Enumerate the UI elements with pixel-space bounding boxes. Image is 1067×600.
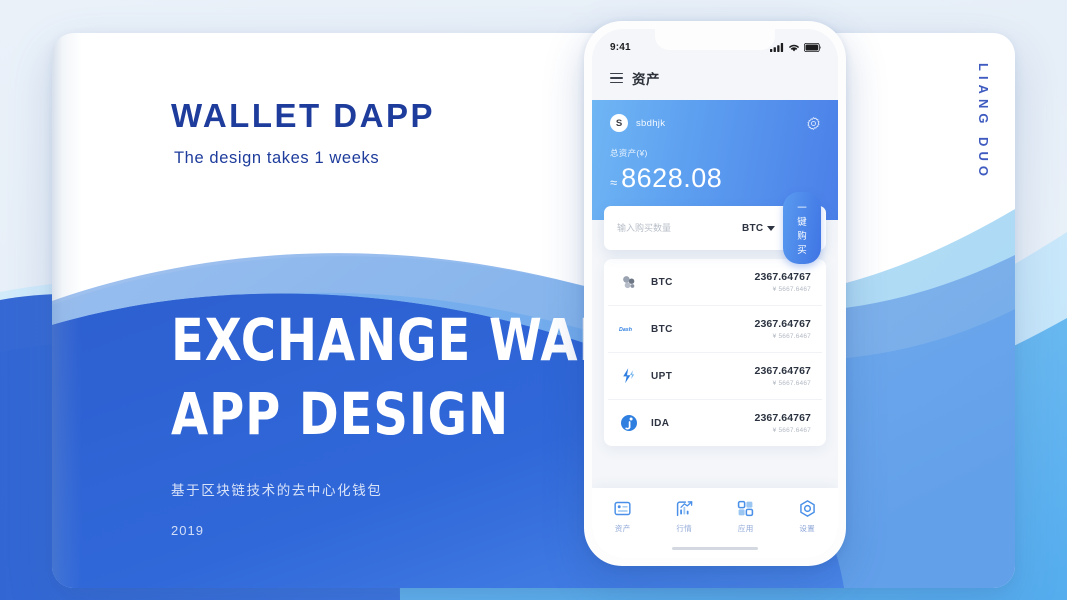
phone-screen: 9:41 <box>592 29 838 558</box>
coin-fiat-value: ¥ 5667.6467 <box>755 427 811 434</box>
tab-label: 应用 <box>738 523 754 534</box>
buy-amount-input[interactable] <box>617 223 734 233</box>
coin-symbol: IDA <box>651 418 669 429</box>
app-navbar: 资产 <box>592 59 838 100</box>
tab-label: 设置 <box>799 523 815 534</box>
currency-selector[interactable]: BTC <box>742 223 775 234</box>
upt-coin-icon <box>619 366 639 386</box>
list-item[interactable]: BTC 2367.64767 ¥ 5667.6467 <box>608 259 822 306</box>
home-indicator <box>672 547 758 550</box>
tab-assets[interactable]: 资产 <box>599 499 647 534</box>
coin-fiat-value: ¥ 5667.6467 <box>755 333 811 340</box>
market-icon <box>675 499 694 518</box>
page-title: WALLET DAPP <box>171 97 435 135</box>
coin-fiat-value: ¥ 5667.6467 <box>755 286 811 293</box>
chevron-down-icon <box>767 226 775 231</box>
tab-label: 资产 <box>615 523 631 534</box>
settings-icon <box>798 499 817 518</box>
brand-block: WALLET DAPP The design takes 1 weeks <box>171 97 435 168</box>
tab-market[interactable]: 行情 <box>660 499 708 534</box>
wifi-icon <box>788 43 800 52</box>
avatar: S <box>610 114 628 132</box>
list-item[interactable]: UPT 2367.64767 ¥ 5667.6467 <box>608 353 822 400</box>
currency-selector-label: BTC <box>742 223 763 234</box>
approx-symbol: ≈ <box>610 175 617 190</box>
navbar-title: 资产 <box>632 68 660 88</box>
account-summary[interactable]: S sbdhjk <box>610 114 665 132</box>
page-subtitle: The design takes 1 weeks <box>174 149 435 168</box>
one-click-buy-button[interactable]: 一键购买 <box>783 192 821 264</box>
username-label: sbdhjk <box>636 118 665 129</box>
status-time: 9:41 <box>610 42 631 53</box>
coin-amount: 2367.64767 <box>755 365 811 377</box>
btc-coin-icon <box>619 272 639 292</box>
list-item[interactable]: IDA 2367.64767 ¥ 5667.6467 <box>608 400 822 446</box>
phone-notch <box>655 29 775 50</box>
coin-symbol: BTC <box>651 324 673 335</box>
coin-list: BTC 2367.64767 ¥ 5667.6467 Dash BTC 2367 <box>604 259 826 446</box>
coin-amount: 2367.64767 <box>755 271 811 283</box>
ida-coin-icon <box>619 413 639 433</box>
hamburger-icon[interactable] <box>610 73 623 84</box>
total-assets-value-row: ≈ 8628.08 <box>610 163 820 194</box>
total-assets-value: 8628.08 <box>621 163 722 194</box>
battery-icon <box>804 43 822 52</box>
gear-icon[interactable] <box>807 117 820 130</box>
tab-settings[interactable]: 设置 <box>783 499 831 534</box>
coin-amount: 2367.64767 <box>755 412 811 424</box>
coin-amount: 2367.64767 <box>755 318 811 330</box>
vertical-brand-label: LIANG DUO <box>976 63 991 181</box>
tab-label: 行情 <box>676 523 692 534</box>
poster-canvas: WALLET DAPP The design takes 1 weeks EXC… <box>0 0 1067 600</box>
coin-fiat-value: ¥ 5667.6467 <box>755 380 811 387</box>
dash-coin-icon: Dash <box>619 319 639 339</box>
total-assets-label: 总资产(¥) <box>610 147 820 159</box>
phone-mockup: 9:41 <box>584 21 846 566</box>
coin-symbol: BTC <box>651 277 673 288</box>
coin-symbol: UPT <box>651 371 672 382</box>
bottom-tab-bar: 资产 行情 <box>592 488 838 558</box>
tab-apps[interactable]: 应用 <box>722 499 770 534</box>
presentation-card: WALLET DAPP The design takes 1 weeks EXC… <box>52 33 1015 588</box>
svg-text:Dash: Dash <box>619 327 632 333</box>
list-item[interactable]: Dash BTC 2367.64767 ¥ 5667.6467 <box>608 306 822 353</box>
assets-icon <box>613 499 632 518</box>
quick-buy-bar: BTC 一键购买 <box>604 206 826 250</box>
apps-icon <box>736 499 755 518</box>
